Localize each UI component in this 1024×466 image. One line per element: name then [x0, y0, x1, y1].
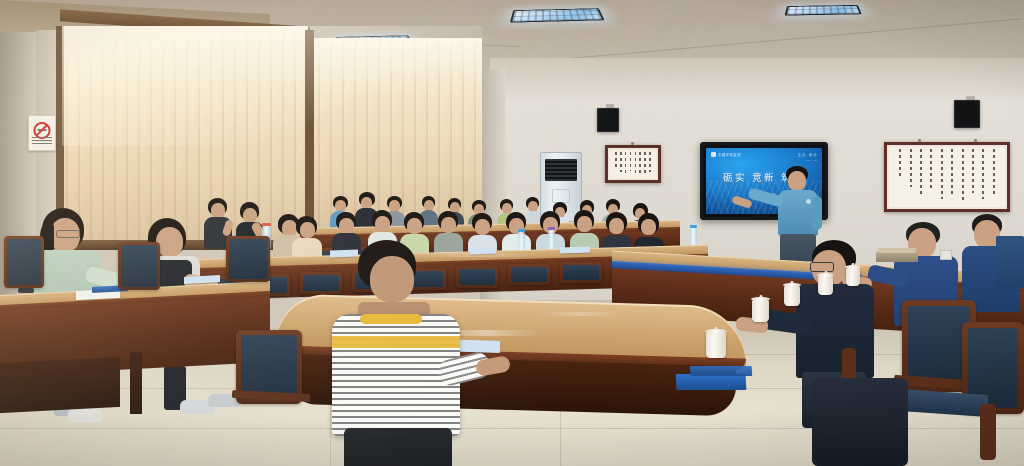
booklet[interactable]: [690, 366, 752, 376]
slide-corner-text: 主办 承办 — —: [798, 153, 818, 162]
mobile-phone[interactable]: [18, 288, 34, 293]
water-bottle[interactable]: [690, 228, 697, 245]
water-bottle[interactable]: [518, 232, 525, 250]
ceiling-light-panel: [510, 8, 605, 22]
tea-cup[interactable]: [784, 286, 800, 306]
chair-leg: [980, 404, 996, 460]
speaker-left-icon: [597, 108, 619, 132]
table-leg: [130, 352, 142, 414]
logo-mark-icon: [711, 152, 716, 157]
handout-sheet[interactable]: [470, 248, 496, 255]
shirt-collar: [360, 314, 422, 324]
power-outlet[interactable]: [940, 250, 952, 260]
tea-cup[interactable]: [752, 300, 769, 322]
shirt-logo: [806, 199, 811, 204]
booklet[interactable]: [676, 374, 747, 390]
slide-logo: 中国环境监测: [711, 152, 741, 157]
framed-calligraphy-small: [605, 145, 661, 183]
table-leg-panel: [0, 357, 120, 413]
chair[interactable]: [508, 264, 550, 285]
chair[interactable]: [456, 266, 498, 288]
stacked-books[interactable]: [876, 252, 918, 262]
window-mullion: [305, 30, 314, 244]
slide-corner-line-2: — —: [798, 158, 818, 162]
eyeglasses: [56, 230, 80, 238]
handout-sheet[interactable]: [330, 250, 358, 258]
tea-cup[interactable]: [706, 332, 726, 358]
ceiling-light-panel: [784, 5, 861, 16]
chair-left-back[interactable]: [4, 236, 44, 288]
ac-display-panel: [552, 189, 570, 203]
wall-soffit: [490, 58, 1024, 100]
shirt-yellow-stripe: [332, 336, 460, 348]
trousers: [344, 428, 452, 466]
tea-cup[interactable]: [818, 276, 833, 295]
speaker-right-icon: [954, 100, 980, 128]
handout-sheet[interactable]: [560, 246, 590, 253]
chair-left-back-3[interactable]: [226, 236, 270, 282]
sign-text-lines: [32, 137, 52, 146]
no-smoking-sign: [28, 115, 56, 151]
side-cabinet: [996, 236, 1024, 288]
eyeglasses: [810, 262, 834, 272]
tea-cup[interactable]: [846, 268, 860, 286]
display-stand: [752, 214, 770, 218]
conference-room-photo: 中国环境监测 主办 承办 — — 砺实 竞新 筑梦 2 0 2 4: [0, 0, 1024, 466]
framed-calligraphy-large: [884, 142, 1010, 212]
chair[interactable]: [300, 272, 342, 294]
book[interactable]: [878, 248, 916, 253]
ac-vent: [545, 159, 577, 181]
slide-logo-text: 中国环境监测: [718, 152, 741, 157]
chair[interactable]: [560, 262, 602, 283]
table-sheen: [540, 312, 620, 316]
chair-left-back-2[interactable]: [118, 242, 160, 290]
water-bottle[interactable]: [548, 230, 555, 249]
curtain-left: [62, 26, 308, 248]
seated-legs: [812, 378, 908, 466]
